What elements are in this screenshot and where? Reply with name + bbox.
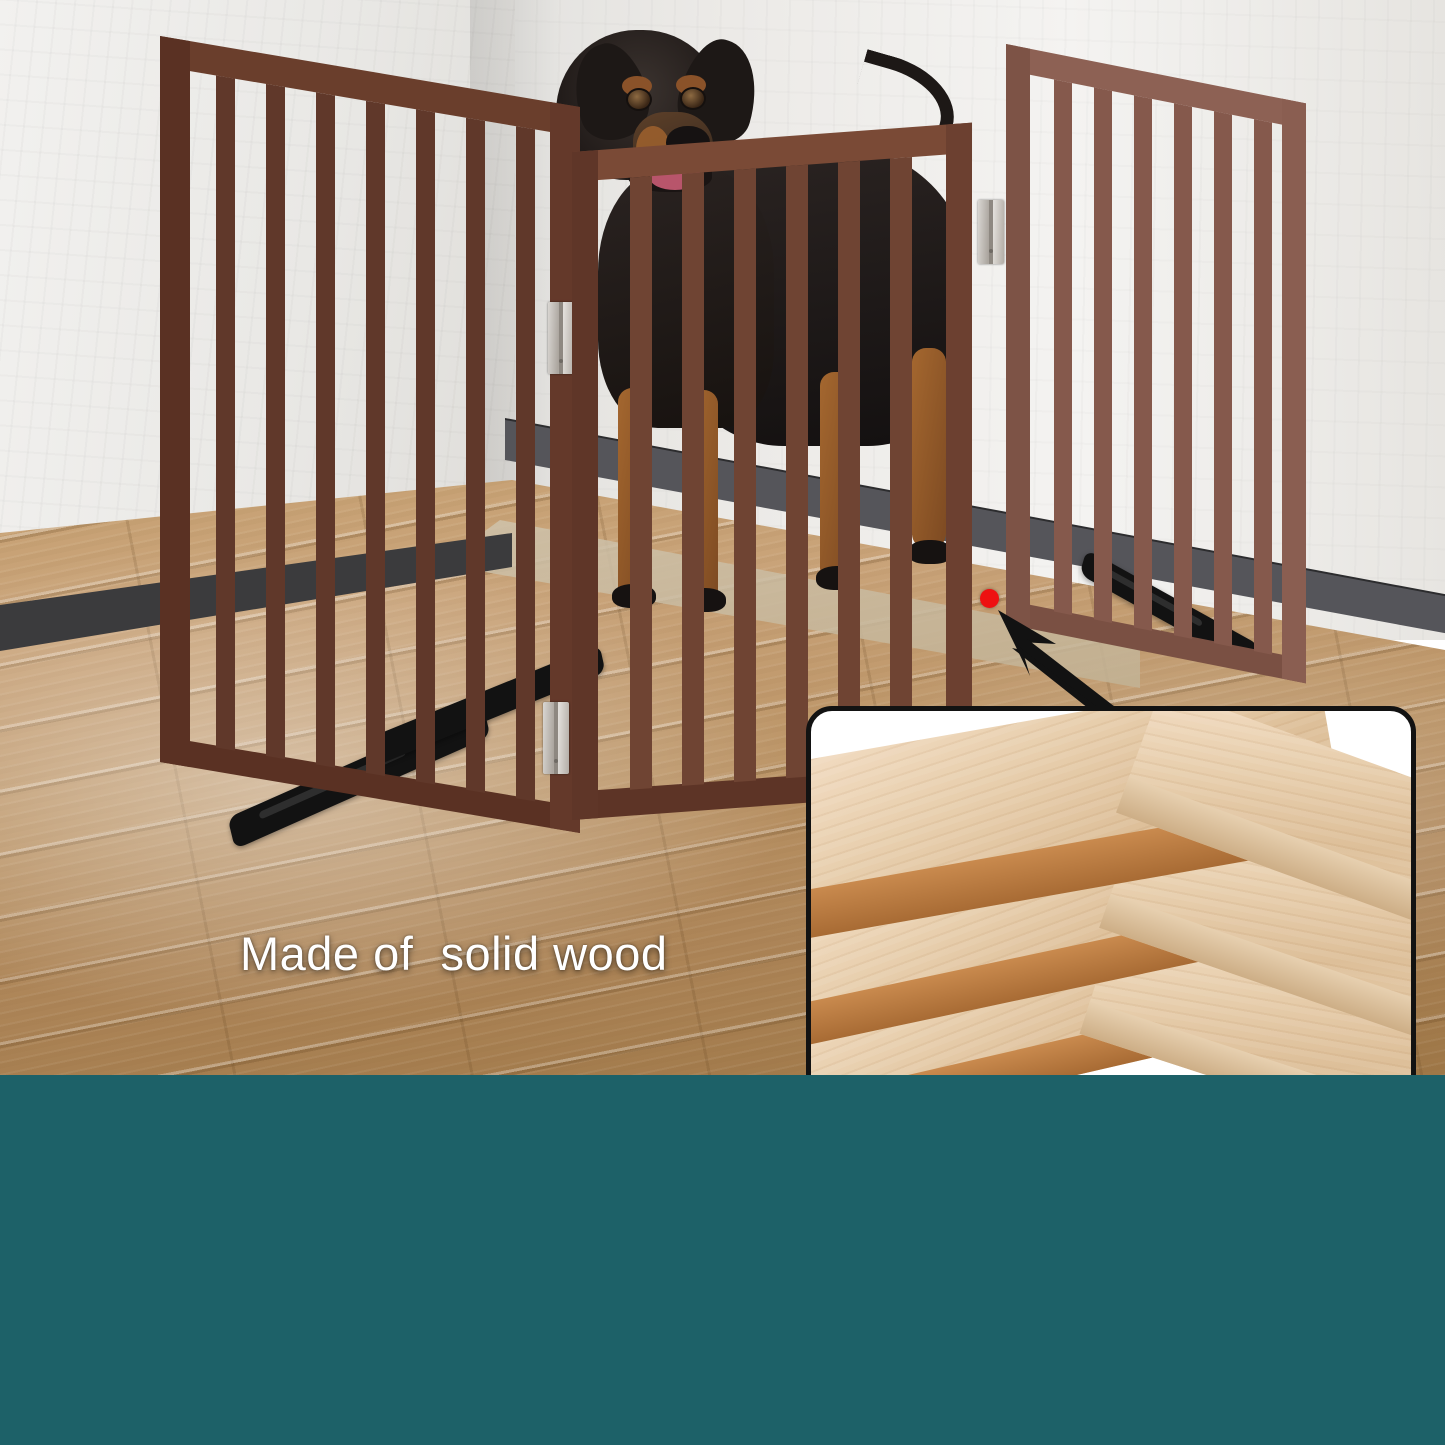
gate-panel-left (160, 36, 580, 947)
hinge-upper (548, 302, 574, 374)
made-of-solid-wood-caption: Made of solid wood (240, 926, 668, 981)
hinge-right (978, 200, 1004, 264)
product-photo-scene: Made of solid wood (0, 0, 1445, 1080)
panel-frame-left (1006, 44, 1030, 629)
panel-slat (786, 165, 808, 779)
callout-red-dot-marker (980, 589, 999, 608)
panel-frame-left (572, 150, 598, 820)
panel-slat (416, 109, 435, 784)
panel-slat (890, 157, 912, 771)
panel-frame-left (160, 36, 190, 767)
panel-slat (630, 176, 652, 790)
product-marketing-image: Made of solid wood 1. Limit your pet fro… (0, 0, 1445, 1445)
panel-slat (1094, 87, 1112, 623)
panel-slat (366, 101, 385, 776)
panel-frame-top (572, 123, 972, 182)
solid-wood-planks-inset (806, 706, 1416, 1080)
panel-slat (734, 168, 756, 782)
panel-slat (1174, 103, 1192, 639)
hinge-pin (559, 302, 563, 374)
hinge-lower (543, 702, 569, 774)
panel-frame-top (1006, 44, 1306, 129)
panel-slat (1054, 80, 1072, 616)
panel-slat (266, 84, 285, 759)
feature-list-panel: 1. Limit your pet from running around 2.… (0, 1075, 1445, 1445)
panel-slat (838, 161, 860, 775)
panel-slat (1134, 95, 1152, 631)
panel-slat (1254, 119, 1272, 655)
panel-slat (516, 126, 535, 801)
panel-slat (1214, 111, 1232, 647)
panel-slat (466, 118, 485, 793)
hinge-pin (989, 200, 993, 264)
hinge-pin (554, 702, 558, 774)
panel-slat (316, 92, 335, 767)
panel-slat (682, 172, 704, 786)
panel-slat (216, 75, 235, 750)
